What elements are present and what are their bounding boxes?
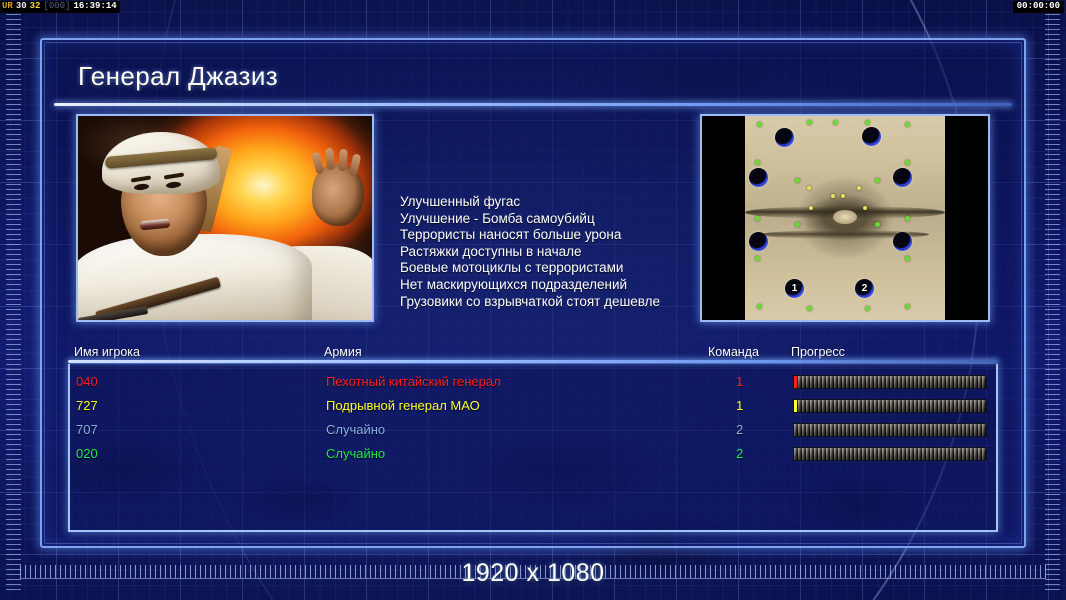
map-resource-marker	[755, 256, 760, 261]
lobby-panel: Генерал Джазиз	[40, 38, 1026, 548]
map-resource-marker	[795, 222, 800, 227]
progress-bar-shading	[794, 376, 986, 388]
map-resource-marker	[755, 160, 760, 165]
map-resource-marker	[905, 122, 910, 127]
ability-line: Улучшение - Бомба самоубийц	[400, 211, 740, 228]
ability-line: Террористы наносят больше урона	[400, 227, 740, 244]
column-header-team: Команда	[708, 345, 759, 359]
finger	[338, 149, 348, 172]
map-resource-marker	[875, 222, 880, 227]
ability-line: Улучшенный фугас	[400, 194, 740, 211]
debug-bracket: [000]	[43, 2, 70, 11]
ruler-right	[1045, 14, 1060, 592]
ability-line: Грузовики со взрывчаткой стоят дешевле	[400, 294, 740, 311]
general-portrait-image	[78, 116, 372, 320]
map-resource-marker	[905, 304, 910, 309]
map-resource-marker	[905, 256, 910, 261]
map-resource-marker	[841, 194, 845, 198]
progress-bar-shading	[794, 400, 986, 412]
ability-line: Растяжки доступны в начале	[400, 244, 740, 261]
ruler-left	[6, 14, 21, 592]
player-army: Пехотный китайский генерал	[326, 370, 501, 394]
map-start-position	[775, 128, 794, 147]
player-name: 020	[76, 442, 98, 466]
map-start-position	[749, 168, 768, 187]
debug-value-two: 32	[30, 2, 41, 11]
map-resource-marker	[905, 216, 910, 221]
player-team: 1	[736, 370, 743, 394]
map-start-position-1: 1	[785, 279, 804, 298]
debug-label-ur: UR	[2, 2, 13, 11]
title-band: Генерал Джазиз	[54, 50, 1012, 102]
progress-bar-shading	[794, 448, 986, 460]
table-row[interactable]: 707Случайно2	[70, 418, 996, 442]
player-table-body: 040Пехотный китайский генерал1727Подрывн…	[68, 364, 998, 532]
table-row[interactable]: 020Случайно2	[70, 442, 996, 466]
map-resource-marker	[905, 160, 910, 165]
debug-value-one: 30	[16, 2, 27, 11]
map-resource-marker	[865, 306, 870, 311]
game-lobby-screen: UR 30 32 [000] 16:39:14 00:00:00 Генерал…	[0, 0, 1066, 600]
status-bar: UR 30 32 [000] 16:39:14 00:00:00	[0, 0, 1066, 13]
resolution-label: 1920 x 1080	[0, 559, 1066, 588]
progress-bar	[793, 399, 987, 413]
title-divider	[54, 103, 1012, 106]
minimap-image[interactable]: 12	[745, 116, 945, 320]
player-team: 2	[736, 442, 743, 466]
map-resource-marker	[875, 178, 880, 183]
media-row: Улучшенный фугас Улучшение - Бомба самоу…	[68, 110, 998, 325]
table-header-divider	[68, 360, 998, 363]
map-resource-marker	[863, 206, 867, 210]
table-row[interactable]: 727Подрывной генерал МАО1	[70, 394, 996, 418]
player-name: 727	[76, 394, 98, 418]
debug-system-time: 16:39:14	[73, 2, 116, 11]
map-start-position-2: 2	[855, 279, 874, 298]
page-title: Генерал Джазиз	[78, 61, 278, 92]
map-resource-marker	[807, 120, 812, 125]
map-resource-marker	[833, 120, 838, 125]
ability-line: Боевые мотоциклы с террористами	[400, 260, 740, 277]
progress-bar-marker	[794, 376, 797, 388]
map-start-position	[893, 168, 912, 187]
map-resource-marker	[831, 194, 835, 198]
progress-bar-shading	[794, 424, 986, 436]
player-table-header: Имя игрока Армия Команда Прогресс	[68, 340, 998, 360]
raised-hand	[312, 164, 364, 226]
player-army: Подрывной генерал МАО	[326, 394, 480, 418]
debug-readout: UR 30 32 [000] 16:39:14	[0, 1, 120, 13]
progress-bar-marker	[794, 400, 797, 412]
player-army: Случайно	[326, 442, 385, 466]
ability-line: Нет маскирующихся подразделений	[400, 277, 740, 294]
player-team: 2	[736, 418, 743, 442]
map-resource-marker	[809, 206, 813, 210]
general-ability-list: Улучшенный фугас Улучшение - Бомба самоу…	[400, 194, 740, 310]
map-resource-marker	[807, 306, 812, 311]
player-team: 1	[736, 394, 743, 418]
player-army: Случайно	[326, 418, 385, 442]
map-resource-marker	[795, 178, 800, 183]
general-portrait-frame	[76, 114, 374, 322]
column-header-army: Армия	[324, 345, 362, 359]
map-resource-marker	[857, 186, 861, 190]
progress-bar	[793, 375, 987, 389]
map-start-position	[862, 127, 881, 146]
table-row[interactable]: 040Пехотный китайский генерал1	[70, 370, 996, 394]
player-name: 040	[76, 370, 98, 394]
map-resource-marker	[755, 216, 760, 221]
map-center-island	[833, 210, 857, 224]
map-resource-marker	[757, 122, 762, 127]
column-header-progress: Прогресс	[791, 345, 845, 359]
map-start-position	[893, 232, 912, 251]
player-name: 707	[76, 418, 98, 442]
map-start-position	[749, 232, 768, 251]
map-resource-marker	[865, 120, 870, 125]
map-resource-marker	[757, 304, 762, 309]
minimap-frame[interactable]: 12	[700, 114, 990, 322]
column-header-name: Имя игрока	[74, 345, 140, 359]
map-resource-marker	[807, 186, 811, 190]
progress-bar	[793, 423, 987, 437]
progress-bar	[793, 447, 987, 461]
match-clock: 00:00:00	[1013, 1, 1064, 13]
